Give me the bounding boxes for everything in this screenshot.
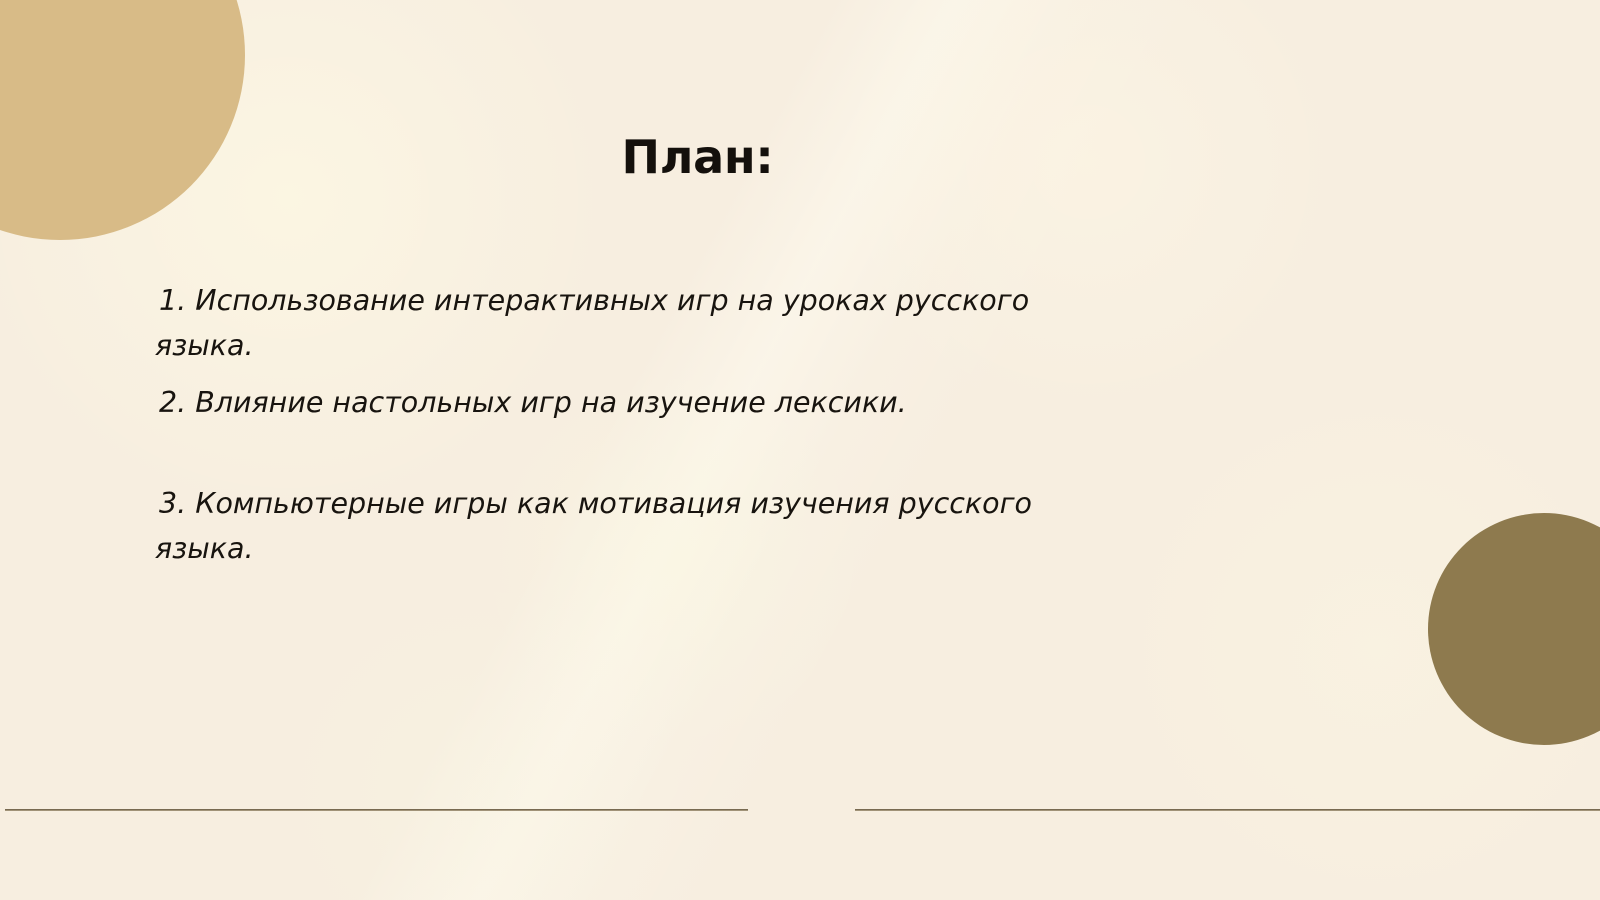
plan-item-3: 3. Компьютерные игры как мотивация изуче… <box>155 481 1070 571</box>
plan-item-2: 2. Влияние настольных игр на изучение ле… <box>155 380 1070 425</box>
decorative-circle-top-left <box>0 0 245 240</box>
footer-divider-right <box>855 809 1600 811</box>
presentation-slide: План: 1. Использование интерактивных игр… <box>0 0 1600 900</box>
plan-list: 1. Использование интерактивных игр на ур… <box>155 278 1070 583</box>
title-block: План: <box>155 128 1240 186</box>
decorative-circle-bottom-right <box>1428 513 1600 745</box>
footer-divider-left <box>5 809 748 811</box>
page-title: План: <box>155 128 1240 186</box>
plan-item-1: 1. Использование интерактивных игр на ур… <box>155 278 1070 368</box>
